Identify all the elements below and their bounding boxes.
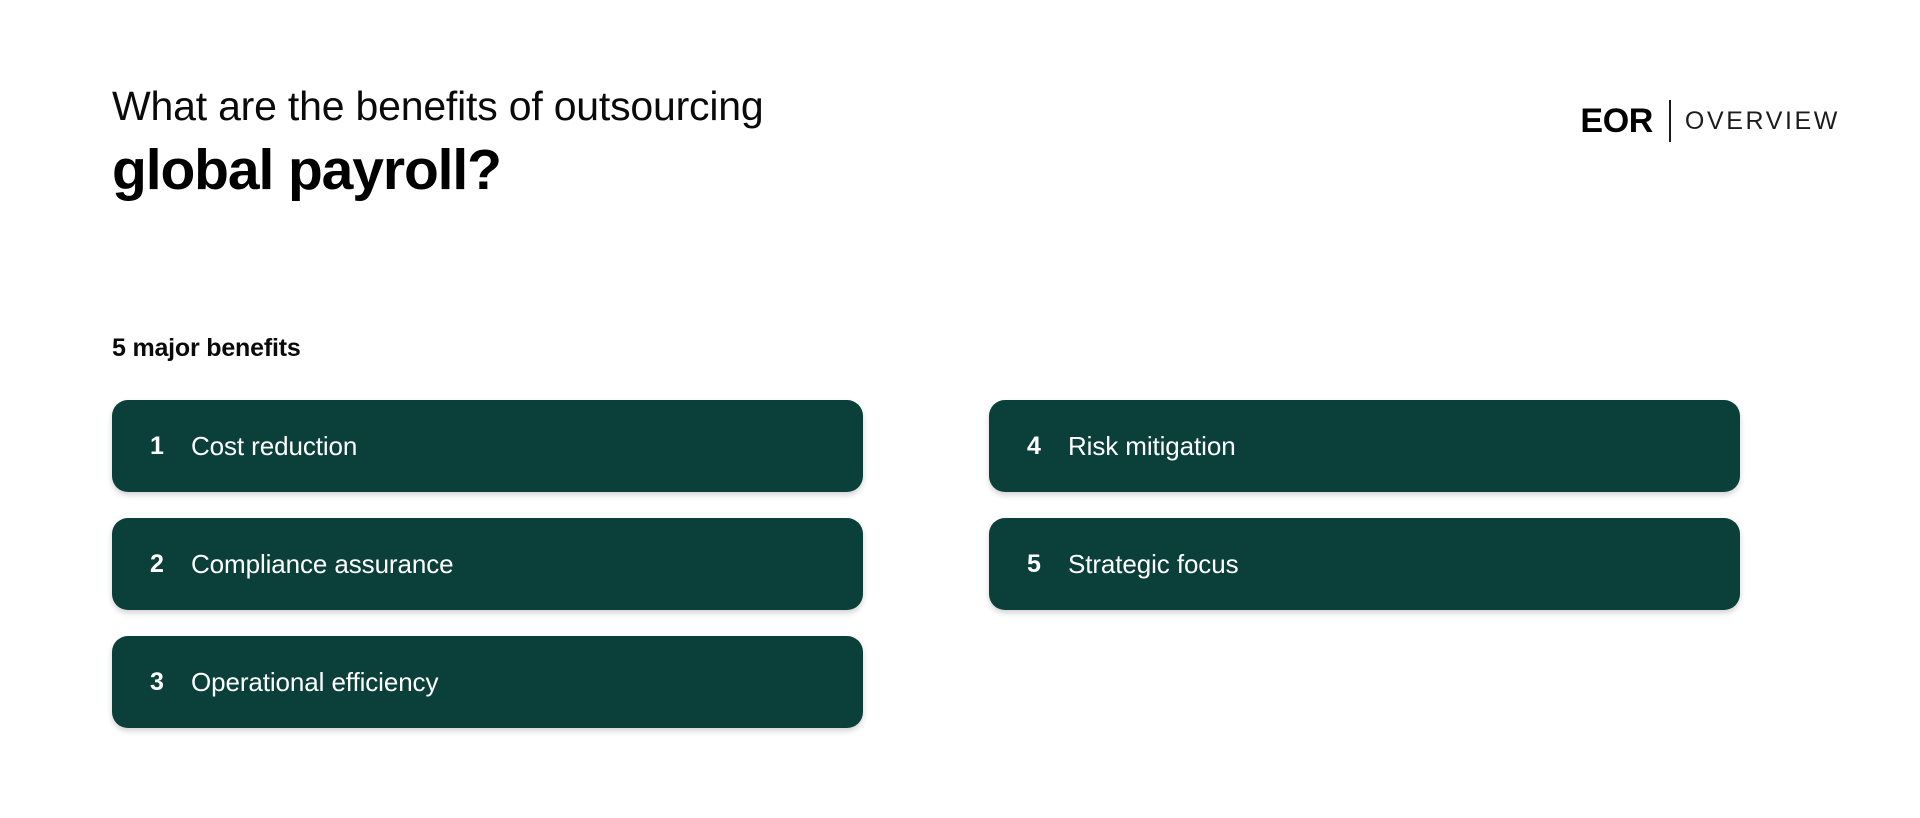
page-title-line-1: What are the benefits of outsourcing — [112, 84, 763, 130]
benefit-number: 4 — [1027, 434, 1047, 459]
benefit-label: Cost reduction — [191, 433, 357, 459]
logo-divider-icon — [1669, 100, 1671, 142]
eor-overview-logo: EOR OVERVIEW — [1580, 100, 1840, 142]
benefit-item-3: 3 Operational efficiency — [112, 636, 863, 728]
benefit-number: 2 — [150, 552, 170, 577]
benefit-item-4: 4 Risk mitigation — [989, 400, 1740, 492]
logo-word-overview: OVERVIEW — [1685, 109, 1840, 134]
benefit-label: Compliance assurance — [191, 551, 453, 577]
benefit-label: Operational efficiency — [191, 669, 438, 695]
benefit-item-5: 5 Strategic focus — [989, 518, 1740, 610]
benefit-item-2: 2 Compliance assurance — [112, 518, 863, 610]
benefits-list: 1 Cost reduction 2 Compliance assurance … — [112, 400, 1740, 728]
benefit-number: 1 — [150, 434, 170, 459]
benefit-label: Risk mitigation — [1068, 433, 1236, 459]
benefits-subheading: 5 major benefits — [112, 334, 301, 363]
logo-mark-eor: EOR — [1580, 104, 1652, 138]
title-block: What are the benefits of outsourcing glo… — [112, 84, 763, 203]
benefit-item-1: 1 Cost reduction — [112, 400, 863, 492]
slide: What are the benefits of outsourcing glo… — [0, 0, 1920, 818]
slide-header: What are the benefits of outsourcing glo… — [112, 84, 1840, 203]
benefit-number: 5 — [1027, 552, 1047, 577]
benefit-label: Strategic focus — [1068, 551, 1238, 577]
page-title-line-2: global payroll? — [112, 139, 763, 203]
benefit-number: 3 — [150, 670, 170, 695]
